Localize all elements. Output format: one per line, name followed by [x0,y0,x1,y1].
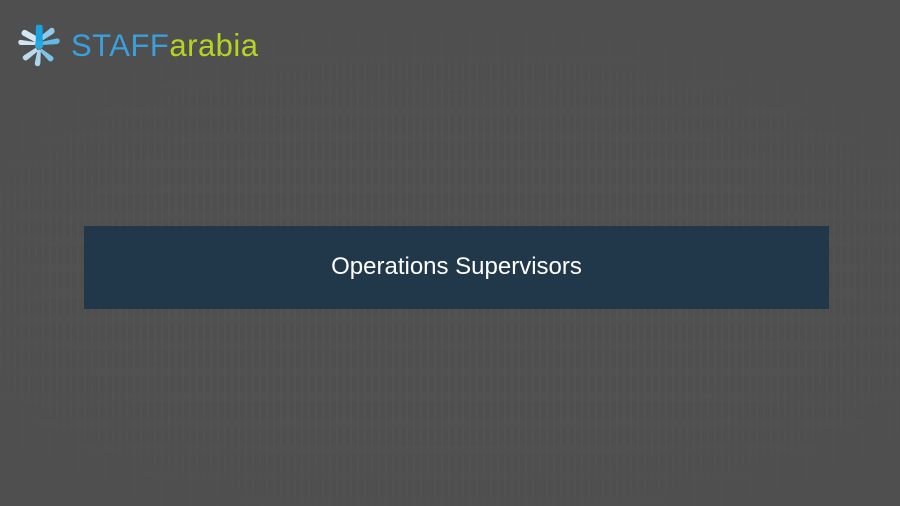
slide-title: Operations Supervisors [331,253,582,282]
brand-wordmark-staff: STAFF [71,27,169,63]
snowflake-icon [16,22,62,68]
title-bar: Operations Supervisors [84,226,829,309]
brand-wordmark: STAFFarabia [71,29,259,61]
slide-canvas: STAFFarabia Operations Supervisors [0,0,900,506]
brand-logo[interactable]: STAFFarabia [16,22,259,68]
brand-wordmark-arabia: arabia [169,27,258,63]
